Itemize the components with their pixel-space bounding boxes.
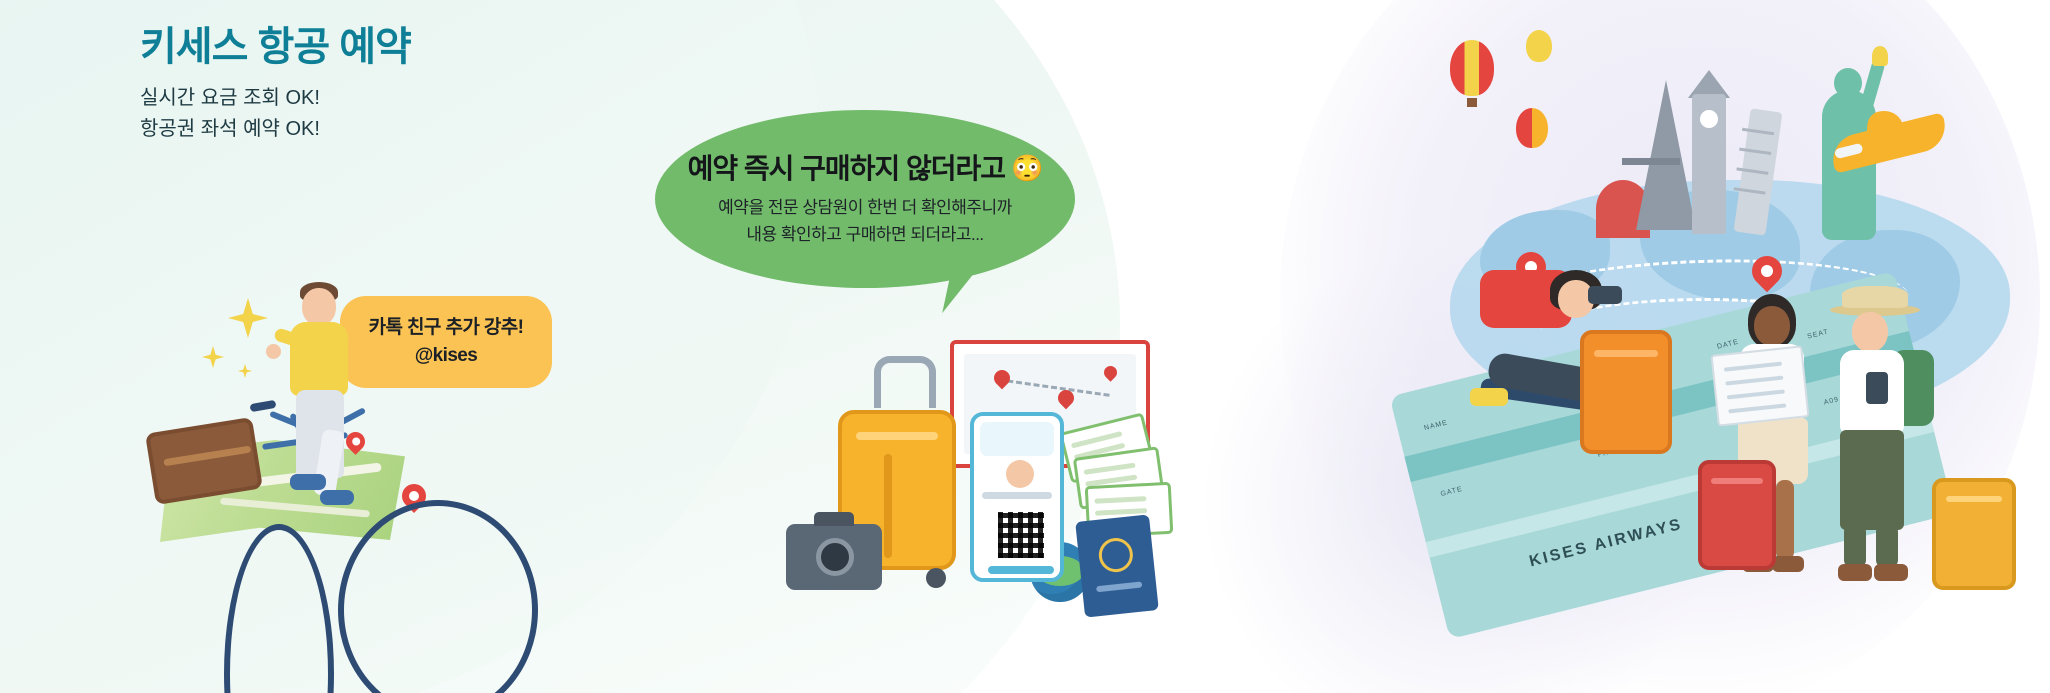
suitcase-divider [884,454,892,558]
boarding-pass-label-gate: GATE [1440,486,1464,498]
green-bubble-sub-line-2: 내용 확인하고 구매하면 되더라고... [746,222,983,248]
woman-map-leg-right [1776,480,1794,560]
promo-banner: 키세스 항공 예약 실시간 요금 조회 OK! 항공권 좌석 예약 OK! 예약… [0,0,2050,693]
hot-air-balloon-icon-medium [1516,108,1548,148]
eiffel-tower-landmark [1636,80,1696,230]
binoculars-icon [1588,286,1622,304]
green-bubble-headline: 예약 즉시 구매하지 않더라고 [688,151,1005,186]
passport-emblem [1097,536,1134,573]
cyclist-hand [266,344,281,359]
sun-hat-icon [1842,286,1908,308]
page-title: 키세스 항공 예약 [140,22,560,72]
man-phone-shoe-right [1874,564,1908,581]
hot-air-balloon-icon-large [1450,40,1494,96]
headline-sub-lines: 실시간 요금 조회 OK! 항공권 좌석 예약 OK! [140,83,560,145]
man-phone-head [1852,312,1888,352]
orange-suitcase-icon [1580,330,1672,454]
boarding-pass-label-name: NAME [1423,419,1448,432]
sparkle-icon-large [228,298,268,338]
headline-sub-line-1: 실시간 요금 조회 OK! [140,83,560,114]
phone-name-bar [982,492,1052,499]
handheld-phone-icon [1866,372,1888,404]
travel-essentials-illustration [850,400,1250,690]
passport-icon [1075,514,1159,617]
sparkle-icon-medium [202,346,224,368]
man-phone-shoe-left [1838,564,1872,581]
woman-map-head [1754,306,1790,346]
flushed-face-emoji: 😳 [1011,155,1042,181]
hot-air-balloon-icon-small [1526,30,1552,62]
camera-icon [786,524,882,590]
cyclist-shoe-left [290,474,326,490]
big-ben-clock-face [1700,110,1718,128]
headline-block: 키세스 항공 예약 실시간 요금 조회 OK! 항공권 좌석 예약 OK! [140,22,560,145]
headline-sub-line-2: 항공권 좌석 예약 OK! [140,114,560,145]
green-speech-bubble: 예약 즉시 구매하지 않더라고 😳 예약을 전문 상담원이 한번 더 확인해주니… [655,110,1075,288]
world-travel-illustration: NAME GATE INCHEON FRANKFURT DATE TIME SE… [1430,30,2050,690]
phone-avatar [1006,460,1034,488]
qr-code-icon [998,512,1044,558]
eiffel-tower-crossbar [1622,158,1680,165]
man-phone-leg-right [1876,524,1898,568]
man-phone-leg-left [1844,524,1866,568]
green-bubble-headline-row: 예약 즉시 구매하지 않더라고 😳 [688,151,1043,186]
cyclist-shoe-right [320,490,354,505]
liberty-torch [1872,46,1888,66]
suitcase-handle [874,356,936,408]
phone-header-bar [980,422,1054,456]
cyclist-illustration [150,260,570,550]
woman-binoculars-shoe [1470,388,1508,406]
green-bubble-sub-line-1: 예약을 전문 상담원이 한번 더 확인해주니까 [718,195,1012,221]
bicycle-wheel-front [224,524,334,693]
woman-map-shoe-right [1772,556,1804,572]
red-suitcase-icon [1698,460,1776,570]
paper-map-icon [1710,345,1809,426]
passport-text-bar [1096,581,1142,592]
man-phone-pants [1840,430,1904,530]
phone-action-bar [988,566,1054,574]
suitcase-wheel-right [926,568,946,588]
sparkle-icon-small [238,364,252,378]
camera-lens [816,538,854,576]
cyclist-head [302,288,336,326]
smartphone-icon [970,412,1064,582]
cyclist-torso [290,322,348,396]
gold-suitcase-icon [1932,478,2016,590]
